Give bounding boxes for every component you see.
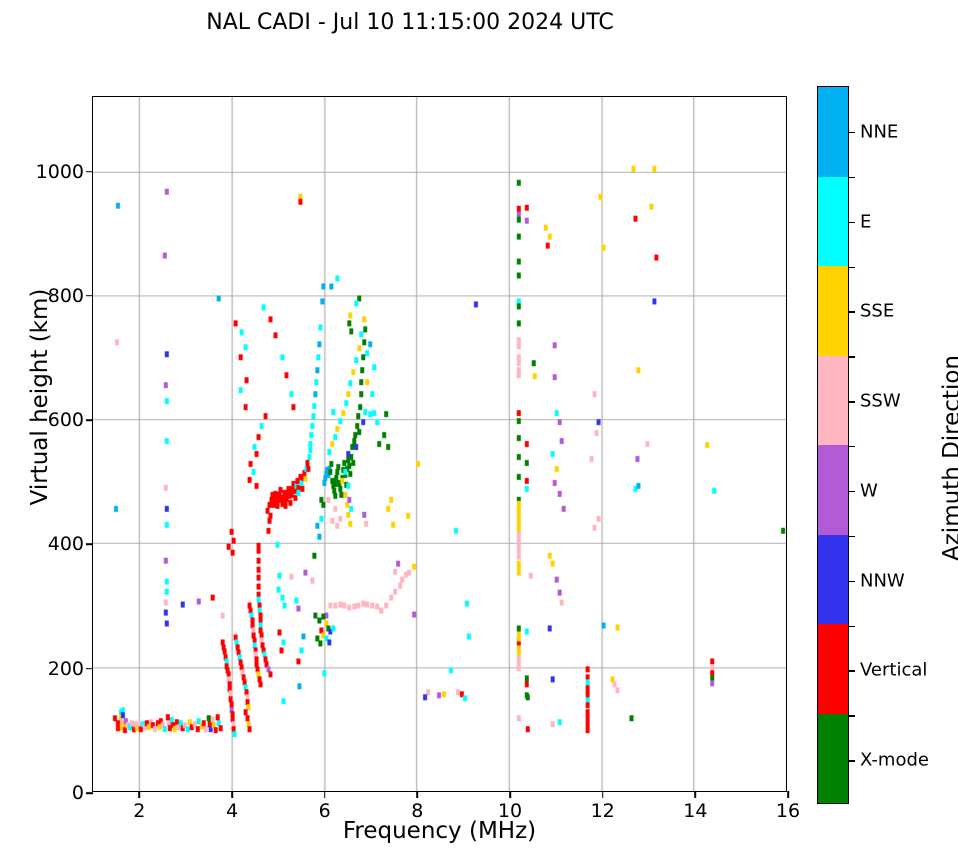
colorbar-boundary-tick bbox=[848, 356, 855, 357]
colorbar-label-e: E bbox=[860, 211, 871, 232]
x-tick-mark bbox=[509, 791, 511, 798]
colorbar-tick bbox=[848, 311, 855, 312]
x-tick-mark bbox=[695, 791, 697, 798]
x-tick-mark bbox=[787, 791, 789, 798]
colorbar-title: Azimuth Direction bbox=[939, 278, 958, 638]
colorbar-segment-ssw bbox=[818, 356, 848, 446]
colorbar-boundary-tick bbox=[848, 715, 855, 716]
page-title: NAL CADI - Jul 10 11:15:00 2024 UTC bbox=[0, 10, 820, 35]
colorbar-boundary-tick bbox=[848, 267, 855, 268]
colorbar-tick bbox=[848, 760, 855, 761]
ionogram-figure: NAL CADI - Jul 10 11:15:00 2024 UTC 0200… bbox=[0, 0, 958, 857]
colorbar-tick bbox=[848, 670, 855, 671]
ionogram-scatter-canvas bbox=[93, 97, 786, 791]
y-tick-mark bbox=[86, 792, 93, 794]
y-tick-mark bbox=[86, 171, 93, 173]
colorbar-segment-e bbox=[818, 177, 848, 267]
x-tick-mark bbox=[602, 791, 604, 798]
y-tick-mark bbox=[86, 544, 93, 546]
x-tick-mark bbox=[417, 791, 419, 798]
colorbar-tick bbox=[848, 222, 855, 223]
colorbar-boundary-tick bbox=[848, 177, 855, 178]
colorbar-tick bbox=[848, 491, 855, 492]
x-axis-label: Frequency (MHz) bbox=[92, 818, 787, 844]
y-tick-mark bbox=[86, 295, 93, 297]
colorbar-tick bbox=[848, 401, 855, 402]
x-tick-mark bbox=[139, 791, 141, 798]
colorbar-segment-w bbox=[818, 445, 848, 535]
colorbar-segment-x-mode bbox=[818, 714, 848, 804]
colorbar-boundary-tick bbox=[848, 536, 855, 537]
colorbar-label-sse: SSE bbox=[860, 301, 894, 322]
colorbar-segment-sse bbox=[818, 266, 848, 356]
y-axis-label: Virtual height (km) bbox=[27, 217, 53, 577]
azimuth-colorbar: NNEESSESSWWNNWVerticalX-mode bbox=[817, 86, 849, 804]
y-tick-mark bbox=[86, 419, 93, 421]
colorbar-segment-nne bbox=[818, 87, 848, 177]
colorbar-boundary-tick bbox=[848, 626, 855, 627]
y-tick-label: 1000 bbox=[36, 161, 93, 183]
plot-axes: 02004006008001000 246810121416 bbox=[92, 96, 787, 792]
colorbar-boundary-tick bbox=[848, 446, 855, 447]
y-tick-mark bbox=[86, 668, 93, 670]
colorbar-label-nnw: NNW bbox=[860, 570, 905, 591]
colorbar-tick bbox=[848, 132, 855, 133]
colorbar-label-x-mode: X-mode bbox=[860, 750, 929, 771]
colorbar-tick bbox=[848, 581, 855, 582]
colorbar-label-w: W bbox=[860, 480, 878, 501]
colorbar-label-nne: NNE bbox=[860, 121, 898, 142]
colorbar-label-vertical: Vertical bbox=[860, 660, 927, 681]
colorbar-segment-vertical bbox=[818, 624, 848, 714]
x-tick-mark bbox=[231, 791, 233, 798]
colorbar-segment-nnw bbox=[818, 535, 848, 625]
x-tick-mark bbox=[324, 791, 326, 798]
colorbar-label-ssw: SSW bbox=[860, 391, 901, 412]
